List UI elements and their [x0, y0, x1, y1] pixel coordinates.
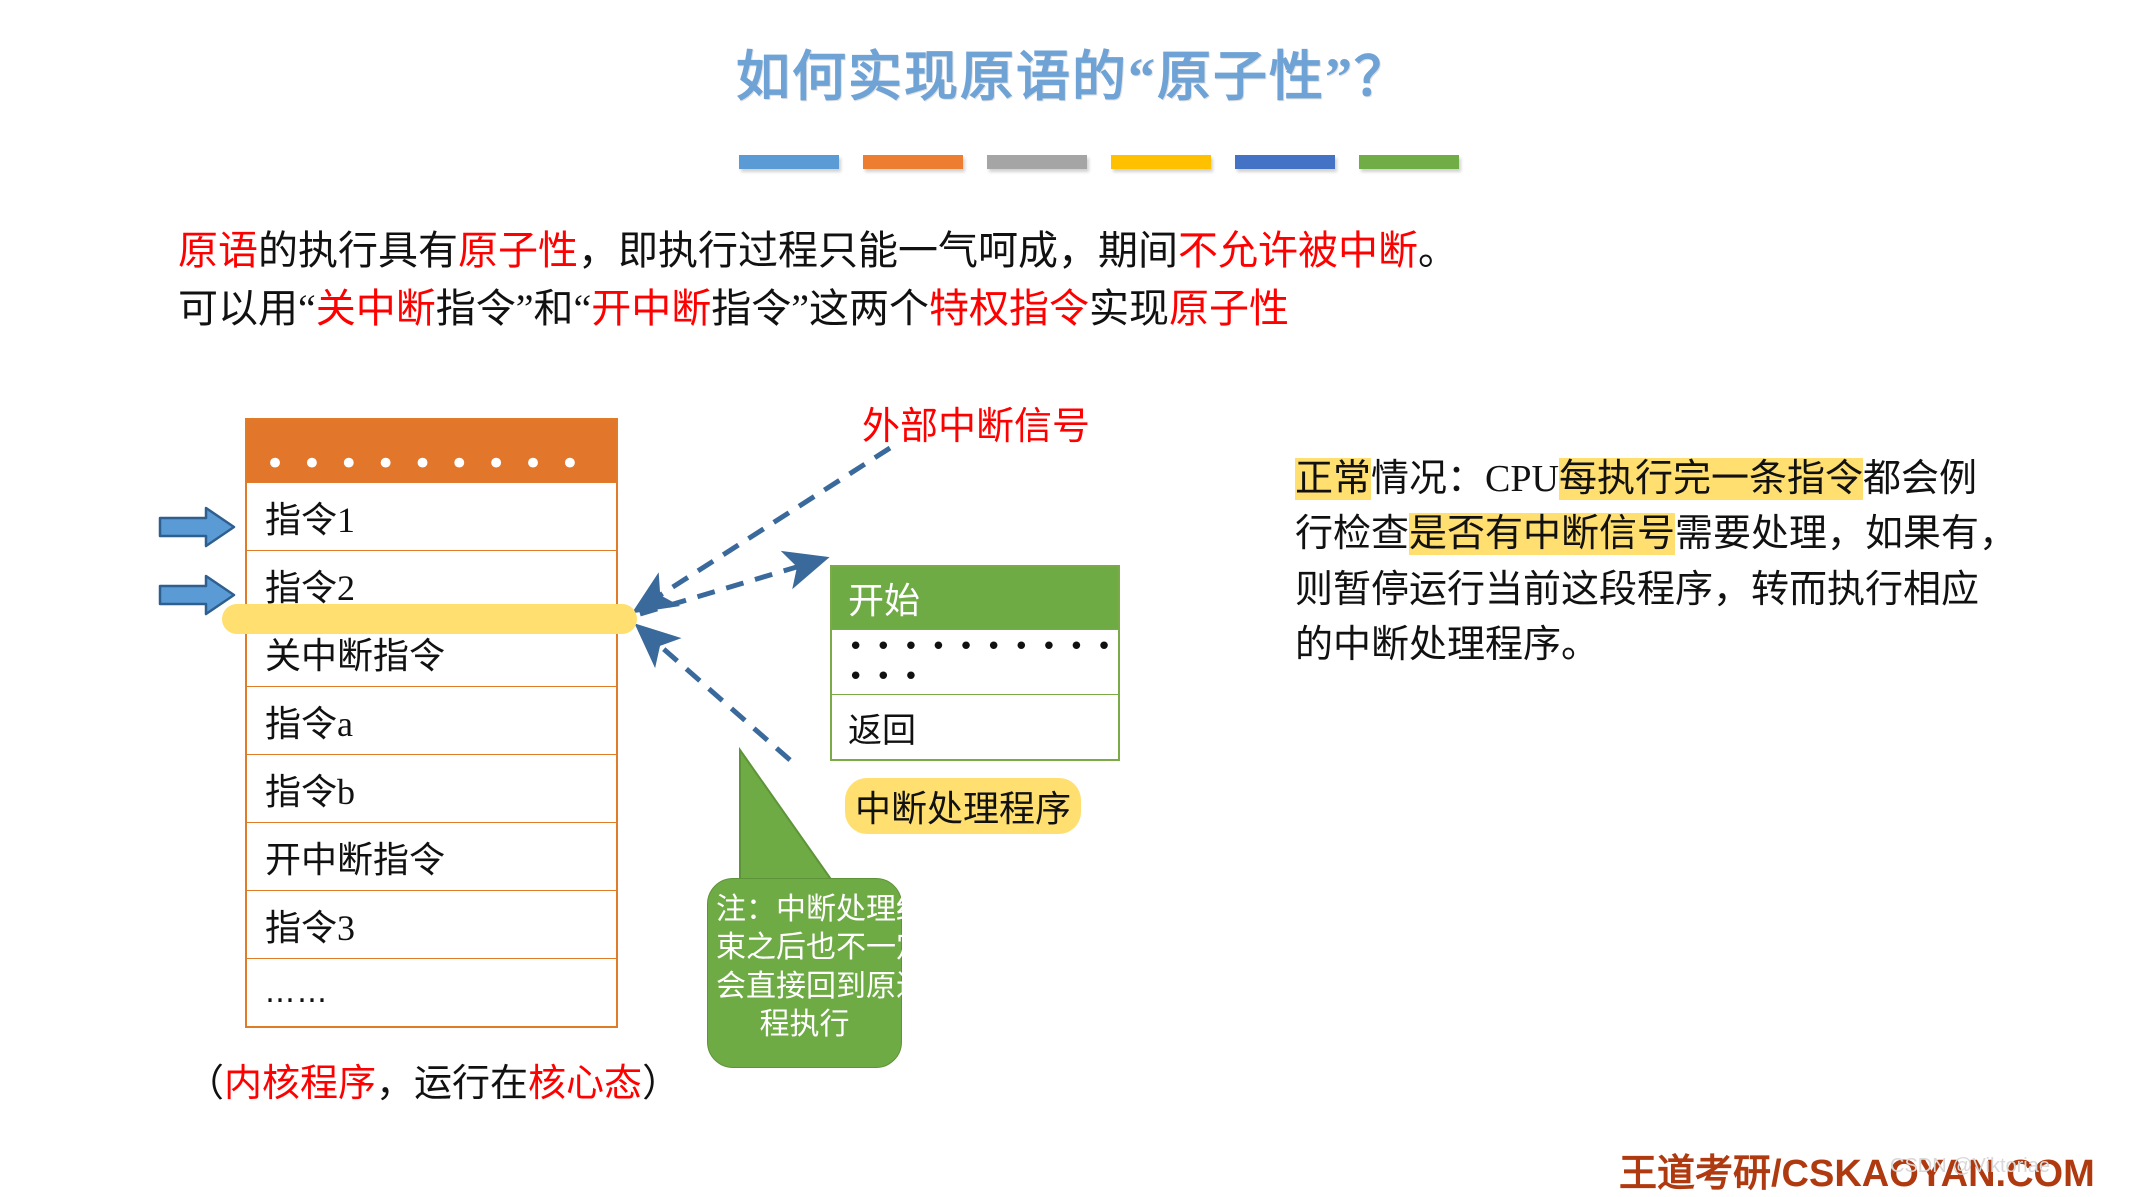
row-label: 指令b: [265, 763, 355, 815]
arrow-instruction-to-handler: [640, 560, 820, 614]
handler-table-header: 开始: [832, 567, 1118, 629]
interrupt-handler-table: 开始 • • • • • • • • • • • • • 返回: [830, 565, 1120, 761]
kernel-mode-caption: （内核程序，运行在核心态）: [186, 1052, 680, 1107]
intro-line-1: 原语的执行具有原子性，即执行过程只能一气呵成，期间不允许被中断。: [178, 222, 1578, 280]
row-label: 开中断指令: [265, 831, 445, 883]
text-run: 都会例: [1863, 458, 1977, 500]
callout-line: 注：中断处理结: [716, 891, 893, 929]
table-row: 指令a: [247, 686, 616, 754]
text-run: 可以用“: [178, 286, 316, 331]
accent-bar-yellow: [1111, 155, 1211, 169]
accent-bar-navy: [1235, 155, 1335, 169]
row-label: • • • • • • • • • • • • •: [848, 632, 1118, 692]
text-run: 则暂停运行当前这段程序，转而执行相应: [1295, 569, 1979, 611]
text-run: （: [186, 1063, 224, 1105]
text-run: 需要处理，如果有，: [1675, 513, 2017, 555]
text-run: 的执行具有: [258, 228, 458, 273]
row-label: 指令a: [265, 695, 353, 747]
text-run: 的中断处理程序。: [1295, 624, 1599, 666]
text-run: 开中断: [591, 286, 711, 331]
row-label: 关中断指令: [265, 627, 445, 679]
callout-line: 程执行: [716, 1006, 893, 1044]
accent-bar-green: [1359, 155, 1459, 169]
slide-canvas: 如何实现原语的“原子性”？ 原语的执行具有原子性，即执行过程只能一气呵成，期间不…: [0, 0, 2146, 1196]
table-row: 开中断指令: [247, 822, 616, 890]
table-row: 指令3: [247, 890, 616, 958]
intro-line-2: 可以用“关中断指令”和“开中断指令”这两个特权指令实现原子性: [178, 280, 1578, 338]
text-run: 每执行完一条指令: [1559, 458, 1863, 500]
explanation-line: 则暂停运行当前这段程序，转而执行相应: [1295, 563, 2035, 618]
callout-tail-shape: [735, 745, 925, 890]
text-run: 实现: [1089, 286, 1169, 331]
callout-line: 会直接回到原进: [716, 968, 893, 1006]
table-row: • • • • • • • • • • • • •: [832, 629, 1118, 694]
text-run: ，即执行过程只能一气呵成，期间: [578, 228, 1178, 273]
note-callout: 注：中断处理结 束之后也不一定 会直接回到原进 程执行: [707, 878, 902, 1068]
text-run: 正常: [1295, 458, 1371, 500]
accent-bar-gray: [987, 155, 1087, 169]
text-run: ）: [642, 1063, 680, 1105]
accent-bar-group: [739, 155, 1459, 169]
text-run: 原子性: [458, 228, 578, 273]
intro-paragraph: 原语的执行具有原子性，即执行过程只能一气呵成，期间不允许被中断。 可以用“关中断…: [178, 222, 1578, 338]
text-run: 情况：CPU: [1371, 458, 1559, 500]
row-label: ……: [265, 975, 329, 1010]
table-row: 指令b: [247, 754, 616, 822]
pointer-arrow-icon: [158, 505, 236, 549]
external-interrupt-signal-label: 外部中断信号: [862, 395, 1090, 450]
page-title: 如何实现原语的“原子性”？: [0, 32, 2146, 111]
text-run: 。: [1418, 228, 1458, 273]
explanation-line: 正常情况：CPU每执行完一条指令都会例: [1295, 452, 2035, 507]
text-run: 指令”和“: [436, 286, 592, 331]
text-run: 关中断: [316, 286, 436, 331]
watermark-text: CSDN @Viktoriae: [1890, 1155, 2050, 1178]
arrow-note-to-instruction: [642, 630, 790, 760]
text-run: 内核程序: [224, 1063, 376, 1105]
accent-bar-blue: [739, 155, 839, 169]
text-run: 行检查: [1295, 513, 1409, 555]
text-run: 原子性: [1169, 286, 1289, 331]
instruction-table-header: • • • • • • • • •: [247, 420, 616, 482]
row-label: 指令2: [265, 559, 355, 611]
text-run: 不允许被中断: [1178, 228, 1418, 273]
text-run: 指令”这两个: [711, 286, 929, 331]
text-run: 核心态: [528, 1063, 642, 1105]
header-dots-label: • • • • • • • • •: [265, 458, 583, 470]
handler-header-label: 开始: [848, 572, 920, 624]
row-label: 指令3: [265, 899, 355, 951]
text-run: 原语: [178, 228, 258, 273]
table-row: 指令1: [247, 482, 616, 550]
text-run: 特权指令: [929, 286, 1089, 331]
instruction-sequence-table: • • • • • • • • • 指令1 指令2 关中断指令 指令a 指令b …: [245, 418, 618, 1028]
explanation-line: 行检查是否有中断信号需要处理，如果有，: [1295, 507, 2035, 562]
accent-bar-orange: [863, 155, 963, 169]
interrupt-point-highlight: [222, 604, 637, 634]
explanation-line: 的中断处理程序。: [1295, 618, 2035, 673]
row-label: 指令1: [265, 491, 355, 543]
text-run: ，运行在: [376, 1063, 528, 1105]
table-row: ……: [247, 958, 616, 1026]
callout-line: 束之后也不一定: [716, 929, 893, 967]
explanation-paragraph: 正常情况：CPU每执行完一条指令都会例 行检查是否有中断信号需要处理，如果有， …: [1295, 452, 2035, 674]
text-run: 是否有中断信号: [1409, 513, 1675, 555]
